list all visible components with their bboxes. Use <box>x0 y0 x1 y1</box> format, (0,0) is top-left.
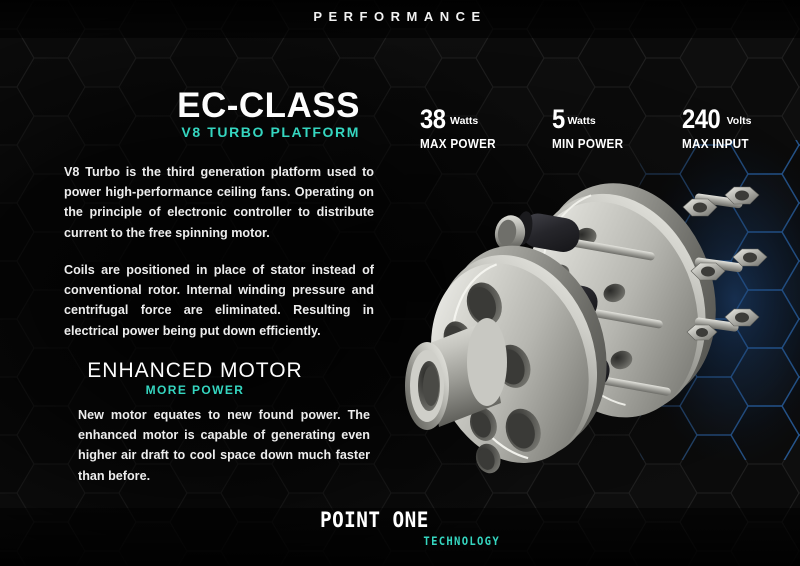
page-title: EC-CLASS <box>0 88 360 123</box>
stat-max-input: 240Volts MAX INPUT <box>682 104 756 151</box>
stat-unit: Watts <box>450 115 478 127</box>
content-column-left: EC-CLASS V8 TURBO PLATFORM V8 Turbo is t… <box>0 0 390 566</box>
brand-logo: POINT ONE TECHNOLOGY <box>320 508 500 548</box>
poster-canvas: PERFORMANCE EC-CLASS V8 TURBO PLATFORM V… <box>0 0 800 566</box>
stats-row: 38Watts MAX POWER 5Watts MIN POWER 240Vo… <box>400 104 800 156</box>
body-paragraph-3: New motor equates to new found power. Th… <box>78 405 370 486</box>
stat-label: MIN POWER <box>552 136 623 151</box>
stat-value: 38 <box>420 104 446 135</box>
logo-primary-text: POINT ONE <box>320 508 486 532</box>
section-subheading-more-power: MORE POWER <box>30 383 360 397</box>
product-image-flange-coupling <box>395 175 800 505</box>
stat-min-power: 5Watts MIN POWER <box>552 104 631 151</box>
stat-label: MAX INPUT <box>682 136 749 151</box>
stat-unit: Watts <box>568 115 596 127</box>
stat-unit: Volts <box>727 115 752 127</box>
stat-value: 240 <box>682 104 720 135</box>
body-paragraph-1: V8 Turbo is the third generation platfor… <box>64 162 374 243</box>
body-paragraph-2: Coils are positioned in place of stator … <box>64 260 374 341</box>
stat-value: 5 <box>552 104 565 135</box>
logo-secondary-text: TECHNOLOGY <box>334 534 500 548</box>
stat-max-power: 38Watts MAX POWER <box>420 104 504 151</box>
section-heading-enhanced-motor: ENHANCED MOTOR <box>30 359 360 383</box>
stat-label: MAX POWER <box>420 136 496 151</box>
page-subtitle: V8 TURBO PLATFORM <box>0 124 360 140</box>
